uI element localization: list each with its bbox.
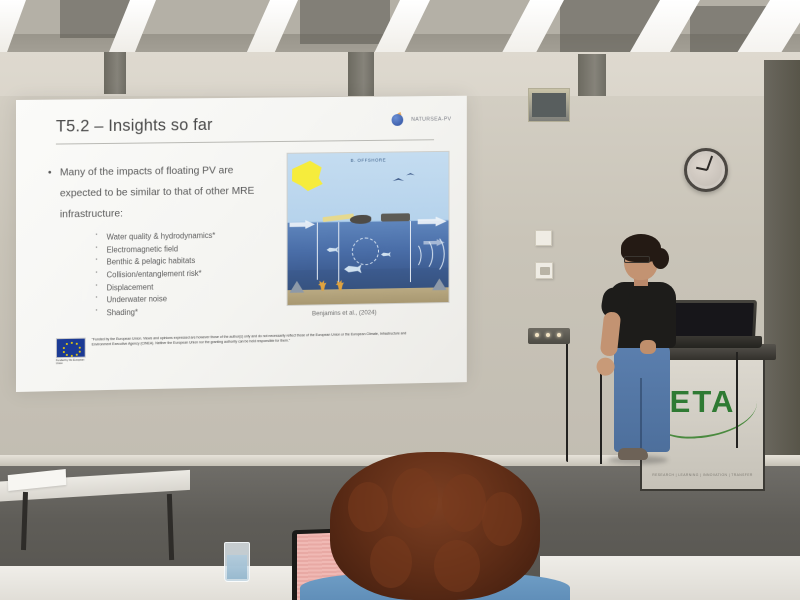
ceiling-recess bbox=[300, 0, 390, 44]
av-connection-panel[interactable] bbox=[528, 328, 570, 344]
water-glass bbox=[224, 542, 250, 582]
mooring-cable bbox=[338, 223, 339, 286]
slide-title-rule bbox=[56, 139, 434, 144]
slide-main-bullet: • Many of the impacts of floating PV are… bbox=[60, 161, 272, 226]
wall-column bbox=[104, 52, 126, 94]
structure-icon bbox=[381, 213, 410, 221]
table-right bbox=[540, 556, 800, 600]
figure-caption: Benjamins et al., (2024) bbox=[312, 309, 377, 317]
noise-wave-icon bbox=[418, 233, 445, 275]
wall-socket-plate[interactable] bbox=[535, 262, 553, 279]
presenter-shoe bbox=[618, 448, 648, 460]
lectern-cable bbox=[736, 352, 738, 448]
eu-disclaimer-text: "Funded by the European Union. Views and… bbox=[92, 331, 415, 365]
eu-flag-icon bbox=[56, 338, 86, 359]
slide-title: T5.2 – Insights so far bbox=[56, 116, 213, 137]
presenter-jeans bbox=[614, 344, 670, 452]
list-item: Shading* bbox=[96, 304, 293, 320]
presenter-hair-bun bbox=[652, 248, 669, 269]
presenter-hand bbox=[640, 340, 656, 354]
mooring-cable bbox=[317, 223, 318, 280]
logo-text: NATURSEA-PV bbox=[411, 116, 451, 122]
offshore-diagram-figure: B. OFFSHORE bbox=[287, 151, 450, 306]
clock-minute-hand bbox=[706, 156, 713, 171]
power-cable bbox=[566, 344, 568, 462]
projected-slide: T5.2 – Insights so far NATURSEA-PV • Man… bbox=[16, 96, 467, 392]
glasses-icon bbox=[624, 256, 650, 263]
wall-right-dark-panel bbox=[764, 60, 800, 480]
wall-clock bbox=[684, 148, 728, 192]
eu-funding-footer: Funded by the European Union "Funded by … bbox=[56, 331, 415, 365]
conference-room-scene: T5.2 – Insights so far NATURSEA-PV • Man… bbox=[0, 0, 800, 600]
circulation-icon bbox=[352, 237, 379, 265]
slide-sub-bullets: Water quality & hydrodynamics* Electroma… bbox=[96, 229, 293, 320]
light-switch-plate[interactable] bbox=[535, 230, 552, 246]
presenter bbox=[600, 232, 710, 522]
wall-speaker bbox=[528, 88, 570, 122]
audience-head bbox=[330, 452, 540, 600]
natursea-pv-logo: NATURSEA-PV bbox=[391, 111, 452, 129]
logo-mark-icon bbox=[391, 111, 408, 129]
bullet-dot-icon: • bbox=[48, 164, 52, 185]
figure-label: B. OFFSHORE bbox=[351, 158, 387, 163]
eu-flag-caption: Funded by the European Union bbox=[56, 359, 86, 366]
